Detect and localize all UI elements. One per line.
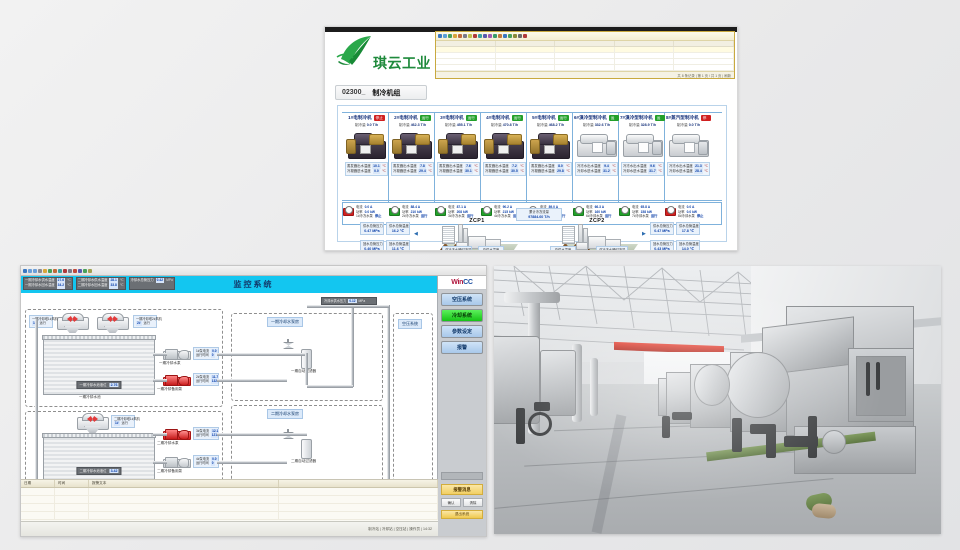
chiller-name: 5#电制冷机 [532,115,556,121]
chiller-readouts: 蒸发器出水温度10.1℃ 冷凝器进水温度0.0℃ [345,162,388,176]
absorption-chiller-icon [667,130,710,160]
zcp2-total-flow: 总冷冻水瞬时流量 1080.74 T/h [596,246,628,251]
pipe-segment [217,379,287,382]
flange-joint [822,430,846,454]
erp-col-2 [496,41,556,46]
airsystem-zone [393,313,433,480]
ack-button[interactable]: 确认 [441,498,461,507]
chiller-subtitle: 制冷量 462.3 T/h [390,123,435,128]
erp-mini-window[interactable]: 共 8 条记录 | 第 1 页 / 共 1 页 | 刷新 [435,31,735,79]
gas-cylinder-2 [811,503,836,519]
pump-values: 电流88.4 A 功率210 kW 2#冷冻水泵运行 [402,205,435,219]
chiller-column[interactable]: 1#电制冷机 停止 制冷量 0.0 T/h 蒸发器出水温度10.1℃ 冷凝器进水… [344,114,389,176]
alarm-col-time: 时间 [55,480,89,487]
chiller-subtitle: 制冷量 470.8 T/h [482,123,527,128]
pump-icon-on [481,206,492,215]
chiller-subtitle: 制冷量 0.0 T/h [344,123,389,128]
zone-label-pumproom1: 一期冷却水泵房 [267,317,303,327]
pump2-caption: 一期冷却备用泵 [157,387,182,392]
chiller-readouts: 蒸发器出水温度8.0℃ 冷凝器进水温度29.8℃ [529,162,572,176]
chiller-status-badge: 运行 [558,115,569,121]
fan2-tag: 一期冷却塔2#风机 2#运行 [133,315,157,328]
fan1-tag: 一期冷却塔1#风机 1#运行 [29,315,53,328]
chiller-status-badge: 运行 [655,115,665,121]
absorption-chiller-icon [621,130,664,160]
flow-arrow-right-2: ▶ [642,232,646,237]
chiller-column[interactable]: 4#电制冷机 运行 制冷量 470.8 T/h 蒸发器出水温度7.2℃ 冷凝器进… [482,114,527,176]
pump1-caption: 一期冷却水泵 [159,361,181,366]
brand-block: 琪云工业 [333,35,445,81]
page-code: 02300_ [342,89,365,96]
zcp1-total-flow: 总冷冻水瞬时流量 758.40 T/h [442,246,472,251]
absorption-chiller-icon [575,130,618,160]
zcp2-return-temp: 回水总管温度 14.0 ℃ [676,240,700,251]
zcp1-return-temp: 回水总管温度 11.6 ℃ [386,240,410,251]
filter2-caption: 二期自动过滤器 [291,459,316,464]
chiller-name: 6#溴冷型制冷机 [574,115,607,121]
nav-button-parameters[interactable]: 参数设定 [441,325,483,338]
chiller-name: 7#溴冷型制冷机 [620,115,653,121]
pump1-tag: 1#泵电流0.0 运行时间0 [193,347,219,360]
flow-arrow-left: ◀ [414,232,418,237]
foreground-valve-1 [732,418,742,452]
chiller-title-row: 7#溴冷型制冷机 运行 [620,114,665,122]
alarm-row[interactable] [21,504,438,512]
zcp1-supply-pressure: 供水总管压力 0.47 MPa [360,222,384,235]
wincc-icon-exit[interactable] [73,269,77,273]
scada-overview-panel: 琪云工业 [324,26,738,251]
toolbar-icon-save[interactable] [458,34,462,38]
pump4-caption: 二期冷却备用泵 [157,469,182,474]
pipe-riser [305,367,308,385]
pump4-tag: 4#泵电流0.0 运行时间0 [193,455,219,468]
toolbar-icon-copy[interactable] [468,34,472,38]
chiller-compressor-drum [726,352,790,418]
chiller-readouts: 冷冻水出水温度21.3℃ 冷却水进水温度28.4℃ [667,162,710,176]
alarm-col-date: 日期 [21,480,55,487]
page-title: 制冷机组 [372,88,400,98]
insulated-pipe-elbow [504,292,560,303]
chiller-name: 8#蒸汽型制冷机 [666,115,699,121]
wincc-logo-win: Win [451,279,463,286]
pump-icon-on [619,206,630,215]
chiller-status-badge: 运行 [420,115,431,121]
zcp2-supply-temp-total: 总供水温度 07.40 ℃ [550,246,576,251]
alarm-row[interactable] [21,512,438,520]
foreground-valve-5 [808,416,817,458]
chiller-column[interactable]: 6#溴冷型制冷机 运行 制冷量 332.6 T/h 冷冻水出水温度9.4℃ 冷却… [574,114,619,176]
wincc-icon-grid[interactable] [88,269,92,273]
cabinet-wiring-2 [876,362,880,390]
mid-rail [342,200,722,201]
green-leaf-check-logo [335,35,377,75]
pump-icon-off [343,206,354,215]
chiller-status-badge: 运行 [609,115,619,121]
erp-col-3 [555,41,615,46]
zcp2-supply-pressure: 供水总管压力 0.47 MPa [650,222,674,235]
chiller-status-badge: 运行 [466,115,477,121]
basin2-level-readout: 二期冷却水池液位 3.42 [76,467,121,475]
chiller-title-row: 8#蒸汽型制冷机 停止 [666,114,711,122]
pump-values: 电流0.0 A 功率0.0 kW 1#冷冻水泵停止 [356,205,389,219]
chiller-name: 3#电制冷机 [440,115,464,121]
cooling-basin-1: 一期冷却水池液位 2.76 [43,337,155,395]
pipe-segment [217,461,287,464]
pipe-segment [307,305,389,308]
toolbar-icon-close[interactable] [523,34,527,38]
pipe-segment [217,353,307,356]
wincc-status-bar: 制冷站 | 冷却站 | 空压站 | 操作员 | 14:32 [21,521,438,536]
pump-node[interactable]: 电流65.8 A 功率158 kW 7#冷却水泵运行 [619,205,665,219]
alarm-col-text: 报警文本 [89,480,279,487]
toolbar-icon-settings[interactable] [518,34,522,38]
pump2-tag: 2#泵电流11.7 运行时间132 [193,373,219,386]
pump-icon-off [665,206,676,215]
chiller-hall-photo [494,266,941,534]
wincc-toolbar[interactable] [21,266,486,276]
pipe-segment [153,379,167,382]
pipe-riser [351,305,354,387]
foreground-valve-3 [766,430,776,458]
pump-node[interactable]: 电流88.4 A 功率210 kW 2#冷冻水泵运行 [389,205,435,219]
erp-col-1 [436,41,496,46]
slide-stage: 琪云工业 [0,0,960,550]
chiller-column[interactable]: 5#电制冷机 运行 制冷量 468.2 T/h 蒸发器出水温度8.0℃ 冷凝器进… [528,114,573,176]
toolbar-icon-new[interactable] [448,34,452,38]
chiller-status-badge: 停止 [374,115,385,121]
electric-chiller-icon [483,130,526,160]
nav-button-alarms[interactable]: 报警 [441,341,483,354]
sidebar-mini-buttons: 确认 清除 [441,498,483,507]
pipe-segment [307,385,353,388]
zone-label-airsystem: 空压系统 [398,319,422,329]
wincc-icon-report[interactable] [53,269,57,273]
pump-values: 电流0.0 A 功率0.0 kW 8#冷却水泵停止 [678,205,711,219]
toolbar-icon-refresh[interactable] [508,34,512,38]
wincc-icon-settings[interactable] [68,269,72,273]
toolbar-icon-grid[interactable] [443,34,447,38]
chiller-column[interactable]: 2#电制冷机 运行 制冷量 462.3 T/h 蒸发器出水温度7.8℃ 冷凝器进… [390,114,435,176]
electric-chiller-icon [437,130,480,160]
wincc-header-bar: 一期冷却水供水温度27.6℃ 一期冷却水回水温度34.2℃ 二期冷却水供水温度2… [21,276,486,293]
zcp1-supply-temp: 供水总管温度 16.2 ℃ [386,222,410,235]
chiller-title-row: 4#电制冷机 运行 [482,114,527,122]
alarm-table[interactable]: 日期 时间 报警文本 [21,479,438,522]
toolbar-icon-find[interactable] [503,34,507,38]
toolbar-icon-print[interactable] [463,34,467,38]
wincc-icon-zoom[interactable] [83,269,87,273]
chiller-name: 4#电制冷机 [486,115,510,121]
foreground-valve-7 [662,416,670,438]
chiller-plant-diagram: 1#电制冷机 停止 制冷量 0.0 T/h 蒸发器出水温度10.1℃ 冷凝器进水… [337,105,727,242]
electric-chiller-icon [345,130,388,160]
toolbar-icon-undo[interactable] [483,34,487,38]
zcp2-return-pressure: 回水总管压力 0.43 MPa [650,240,674,251]
fan3-tag: 二期冷却塔1#风机 1#运行 [111,415,135,428]
cabinet-wiring [866,362,870,396]
wincc-icon-back[interactable] [28,269,32,273]
pump-icon-on [573,206,584,215]
left-valve-cluster [516,408,525,444]
wincc-process-canvas: 一期冷却塔1#风机 1#运行 一期冷却塔2#风机 2#运行 一期冷却水池液位 2… [21,293,438,480]
chiller-readouts: 冷冻水出水温度9.6℃ 冷却水进水温度31.7℃ [621,162,664,176]
wincc-logo-cc: CC [463,279,473,286]
header-rail [342,112,722,113]
pump-values: 电流65.8 A 功率158 kW 7#冷却水泵运行 [632,205,665,219]
electric-chiller-icon [529,130,572,160]
valve-icon-1[interactable] [283,341,292,348]
left-valve-cluster-2 [534,402,550,411]
nav-button-air-system[interactable]: 空压系统 [441,293,483,306]
wincc-icon-lock[interactable] [63,269,67,273]
toolbar-icon-help[interactable] [438,34,442,38]
foreground-valve-6 [672,412,692,420]
insulated-pipe-3 [590,358,598,416]
alarm-col-extra [279,480,438,487]
exit-system-button[interactable]: 退出系统 [441,510,483,519]
chiller-name: 2#电制冷机 [394,115,418,121]
filter1-caption: 一期自动过滤器 [291,369,316,374]
cooling-basin-2: 二期冷却水池液位 3.42 [43,435,155,480]
erp-col-5 [674,41,734,46]
zcp2-supply-temp: 供水总管温度 17.8 ℃ [676,222,700,235]
chiller-title-row: 6#溴冷型制冷机 运行 [574,114,619,122]
chiller-subtitle: 制冷量 455.1 T/h [436,123,481,128]
toolbar-icon-paste[interactable] [478,34,482,38]
chiller-status-badge: 停止 [701,115,711,121]
pump-icon-on [435,206,446,215]
pump-values: 电流66.3 A 功率160 kW 6#冷却水泵运行 [586,205,619,219]
nav-button-cooling-system[interactable]: 冷却系统 [441,309,483,322]
sidebar-divider [441,472,483,480]
alarm-row[interactable] [21,488,438,496]
electric-chiller-icon [391,130,434,160]
page-title-chip[interactable]: 02300_ 制冷机组 [335,85,427,100]
wincc-sidebar: Win CC 空压系统 冷却系统 参数设定 报警 报警消息 确认 清除 退出系统 [437,276,486,536]
pipe-segment [153,461,167,464]
erp-toolbar[interactable] [436,32,734,41]
toolbar-icon-export[interactable] [513,34,517,38]
pump-node[interactable]: 电流66.3 A 功率160 kW 6#冷却水泵运行 [573,205,619,219]
pump-node[interactable]: 电流87.1 A 功率208 kW 3#冷冻水泵运行 [435,205,481,219]
pipe-riser [305,353,308,367]
chiller-title-row: 2#电制冷机 运行 [390,114,435,122]
toolbar-icon-redo[interactable] [488,34,492,38]
basin1-caption: 一期冷却水池 [79,395,101,400]
chiller-subtitle: 制冷量 468.2 T/h [528,123,573,128]
wincc-icon-forward[interactable] [33,269,37,273]
cooling-tower-fan-1[interactable] [57,313,87,329]
chiller-column[interactable]: 7#溴冷型制冷机 运行 制冷量 328.9 T/h 冷冻水出水温度9.6℃ 冷却… [620,114,665,176]
wincc-icon-user[interactable] [58,269,62,273]
chiller-title-row: 1#电制冷机 停止 [344,114,389,122]
wincc-logo: Win CC [438,276,486,290]
wincc-icon-trend[interactable] [48,269,52,273]
auto-filter-2 [301,439,312,459]
erp-status-text: 共 8 条记录 | 第 1 页 / 共 1 页 | 刷新 [677,73,731,78]
wincc-icon-print[interactable] [38,269,42,273]
toolbar-icon-filter[interactable] [493,34,497,38]
alarm-row[interactable] [21,496,438,504]
pipe-segment [153,353,167,356]
pump-node[interactable]: 电流0.0 A 功率0.0 kW 8#冷却水泵停止 [665,205,711,219]
erp-data-grid[interactable] [436,41,734,72]
pipe-segment [153,433,167,436]
erp-col-4 [615,41,675,46]
toolbar-icon-open[interactable] [453,34,457,38]
chiller-readouts: 冷冻水出水温度9.4℃ 冷却水进水温度31.2℃ [575,162,618,176]
chiller-compressor-drum-2 [694,364,730,406]
chiller-column[interactable]: 8#蒸汽型制冷机 停止 制冷量 0.0 T/h 冷冻水出水温度21.3℃ 冷却水… [666,114,711,176]
basin1-level-readout: 一期冷却水池液位 2.76 [76,381,121,389]
chiller-status-badge: 运行 [512,115,523,121]
pump3-caption: 二期冷却水泵 [157,441,179,446]
left-valve-handwheel [528,412,552,436]
chiller-column[interactable]: 3#电制冷机 运行 制冷量 455.1 T/h 蒸发器出水温度7.6℃ 冷凝器进… [436,114,481,176]
wincc-monitoring-panel: 一期冷却水供水温度27.6℃ 一期冷却水回水温度34.2℃ 二期冷却水供水温度2… [20,265,487,537]
toolbar-icon-cut[interactable] [473,34,477,38]
wincc-icon-help[interactable] [78,269,82,273]
chiller-readouts: 蒸发器出水温度7.2℃ 冷凝器进水温度30.5℃ [483,162,526,176]
company-name: 琪云工业 [373,53,431,73]
wincc-icon-alarm[interactable] [43,269,47,273]
clear-button[interactable]: 清除 [463,498,483,507]
zcp1-return-pressure: 回水总管压力 0.40 MPa [360,240,384,251]
wincc-icon-home[interactable] [23,269,27,273]
chiller-readouts: 蒸发器出水温度7.8℃ 冷凝器进水温度29.4℃ [391,162,434,176]
cooling-tower-fan-2[interactable] [97,313,127,329]
cooling-tower-fan-3[interactable] [77,413,107,429]
chiller-title-row: 3#电制冷机 运行 [436,114,481,122]
pipe-segment [217,433,307,436]
chiller-title-row: 5#电制冷机 运行 [528,114,573,122]
zone-label-pumproom2: 二期冷却水泵房 [267,409,303,419]
pump-node[interactable]: 电流0.0 A 功率0.0 kW 1#冷冻水泵停止 [343,205,389,219]
wincc-title: 监控系统 [21,279,486,290]
chiller-readouts: 蒸发器出水温度7.6℃ 冷凝器进水温度30.1℃ [437,162,480,176]
chiller-name: 1#电制冷机 [348,115,372,121]
zcp1-supply-temp-total: 总供水温度 8.40 ℃ [478,246,504,251]
pipe-riser [35,319,38,480]
pump-icon-on [389,206,400,215]
status-text: 制冷站 | 冷却站 | 空压站 | 操作员 | 14:32 [368,527,432,532]
erp-status-bar: 共 8 条记录 | 第 1 页 / 共 1 页 | 刷新 [436,71,734,78]
toolbar-icon-sort[interactable] [498,34,502,38]
pipe-riser [387,305,390,480]
alarm-table-header: 日期 时间 报警文本 [21,480,438,488]
control-cabinet-inner [856,356,906,416]
pump-values: 电流87.1 A 功率208 kW 3#冷冻水泵运行 [448,205,481,219]
pump3-tag: 3#泵电流12.1 运行时间121 [193,427,219,440]
sidebar-alarm-title: 报警消息 [441,484,483,495]
